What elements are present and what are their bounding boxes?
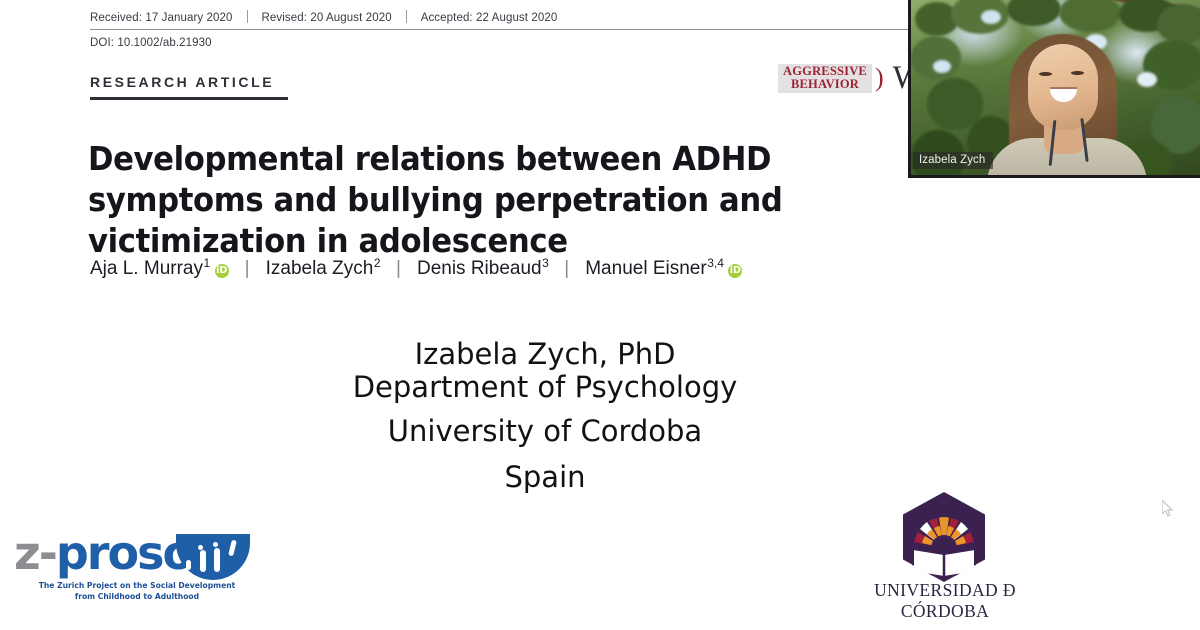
- presenter-institution: University of Cordoba: [0, 415, 1090, 447]
- silhouette-adult: [200, 550, 206, 572]
- author-affiliation-marker: 3: [542, 256, 549, 270]
- author-name: Aja L. Murray: [90, 258, 203, 280]
- author-affiliation-marker: 1: [203, 256, 210, 270]
- zproso-tagline-line2: from Childhood to Adulthood: [28, 591, 247, 602]
- journal-divider-glyph: ): [875, 65, 884, 91]
- presentation-slide: Received: 17 January 2020 Revised: 20 Au…: [0, 0, 1200, 630]
- author-entry-3: Denis Ribeaud3: [417, 258, 548, 280]
- uco-emblem-artwork: [903, 492, 985, 582]
- author-list: Aja L. Murray1iD | Izabela Zych2 | Denis…: [90, 258, 742, 280]
- presenter-block: Izabela Zych, PhD Department of Psycholo…: [0, 338, 1090, 493]
- silhouette-jumper: [228, 540, 237, 557]
- doi-line: DOI: 10.1002/ab.21930: [90, 30, 900, 49]
- journal-title-line2: BEHAVIOR: [783, 78, 867, 91]
- author-entry-1: Aja L. Murray1iD: [90, 258, 229, 280]
- silhouette-child-head: [213, 542, 218, 547]
- person-eye-left: [1039, 72, 1052, 76]
- zproso-word-proso: proso: [56, 526, 192, 580]
- meta-divider-2: [406, 10, 407, 23]
- article-type-rule: [90, 97, 288, 100]
- received-date: Received: 17 January 2020: [90, 12, 233, 24]
- author-entry-4: Manuel Eisner3,4iD: [585, 258, 742, 280]
- sky-gap: [1137, 72, 1157, 87]
- revised-date: Revised: 20 August 2020: [262, 12, 392, 24]
- accepted-date: Accepted: 22 August 2020: [421, 12, 558, 24]
- journal-logo: AGGRESSIVE BEHAVIOR ) W: [778, 62, 924, 95]
- author-affiliation-marker: 2: [374, 256, 381, 270]
- author-separator-3: |: [564, 258, 569, 280]
- zproso-wordmark: z-proso: [14, 530, 192, 576]
- foliage: [1157, 4, 1200, 44]
- orcid-icon[interactable]: iD: [215, 264, 229, 278]
- zproso-tagline-line1: The Zurich Project on the Social Develop…: [28, 580, 247, 591]
- author-name: Manuel Eisner: [585, 258, 706, 280]
- presenter-department: Department of Psychology: [0, 371, 1090, 403]
- foliage: [911, 36, 961, 80]
- sky-gap: [981, 10, 1001, 24]
- author-affiliation-marker: 3,4: [707, 256, 724, 270]
- presenter-name: Izabela Zych, PhD: [0, 338, 1090, 370]
- author-separator-1: |: [245, 258, 250, 280]
- silhouette-adult-head: [198, 545, 203, 550]
- webcam-participant-label: Izabela Zych: [913, 152, 993, 169]
- uco-emblem: [903, 492, 985, 582]
- author-name: Izabela Zych: [266, 258, 374, 280]
- author-separator-2: |: [396, 258, 401, 280]
- universidad-cordoba-logo: UNIVERSIDAD Ð CÓRDOBA: [845, 492, 1045, 607]
- person-face: [1028, 44, 1098, 130]
- uco-wordmark: UNIVERSIDAD Ð CÓRDOBA: [845, 580, 1045, 622]
- presenter-country: Spain: [0, 461, 1090, 493]
- zproso-logo: z-proso The Zurich Project on the Social…: [8, 530, 258, 610]
- orcid-icon[interactable]: iD: [728, 264, 742, 278]
- silhouette-child: [214, 548, 220, 572]
- mouse-cursor-icon: [1162, 500, 1175, 517]
- paper-dates-row: Received: 17 January 2020 Revised: 20 Au…: [90, 8, 900, 29]
- webcam-video-panel[interactable]: Izabela Zych: [908, 0, 1200, 178]
- meta-divider-1: [247, 10, 248, 23]
- author-name: Denis Ribeaud: [417, 258, 542, 280]
- person-eye-right: [1071, 71, 1084, 75]
- paper-metadata-header: Received: 17 January 2020 Revised: 20 Au…: [90, 8, 900, 49]
- zproso-word-z: z-: [14, 526, 56, 580]
- author-entry-2: Izabela Zych2: [266, 258, 380, 280]
- silhouette-dog: [186, 560, 191, 570]
- journal-title-badge: AGGRESSIVE BEHAVIOR: [778, 64, 872, 93]
- page-title: Developmental relations between ADHD sym…: [88, 138, 860, 261]
- article-type-label: RESEARCH ARTICLE: [90, 74, 274, 90]
- zproso-tagline: The Zurich Project on the Social Develop…: [28, 580, 247, 602]
- sky-gap: [933, 60, 951, 73]
- webcam-video-frame: Izabela Zych: [911, 0, 1200, 175]
